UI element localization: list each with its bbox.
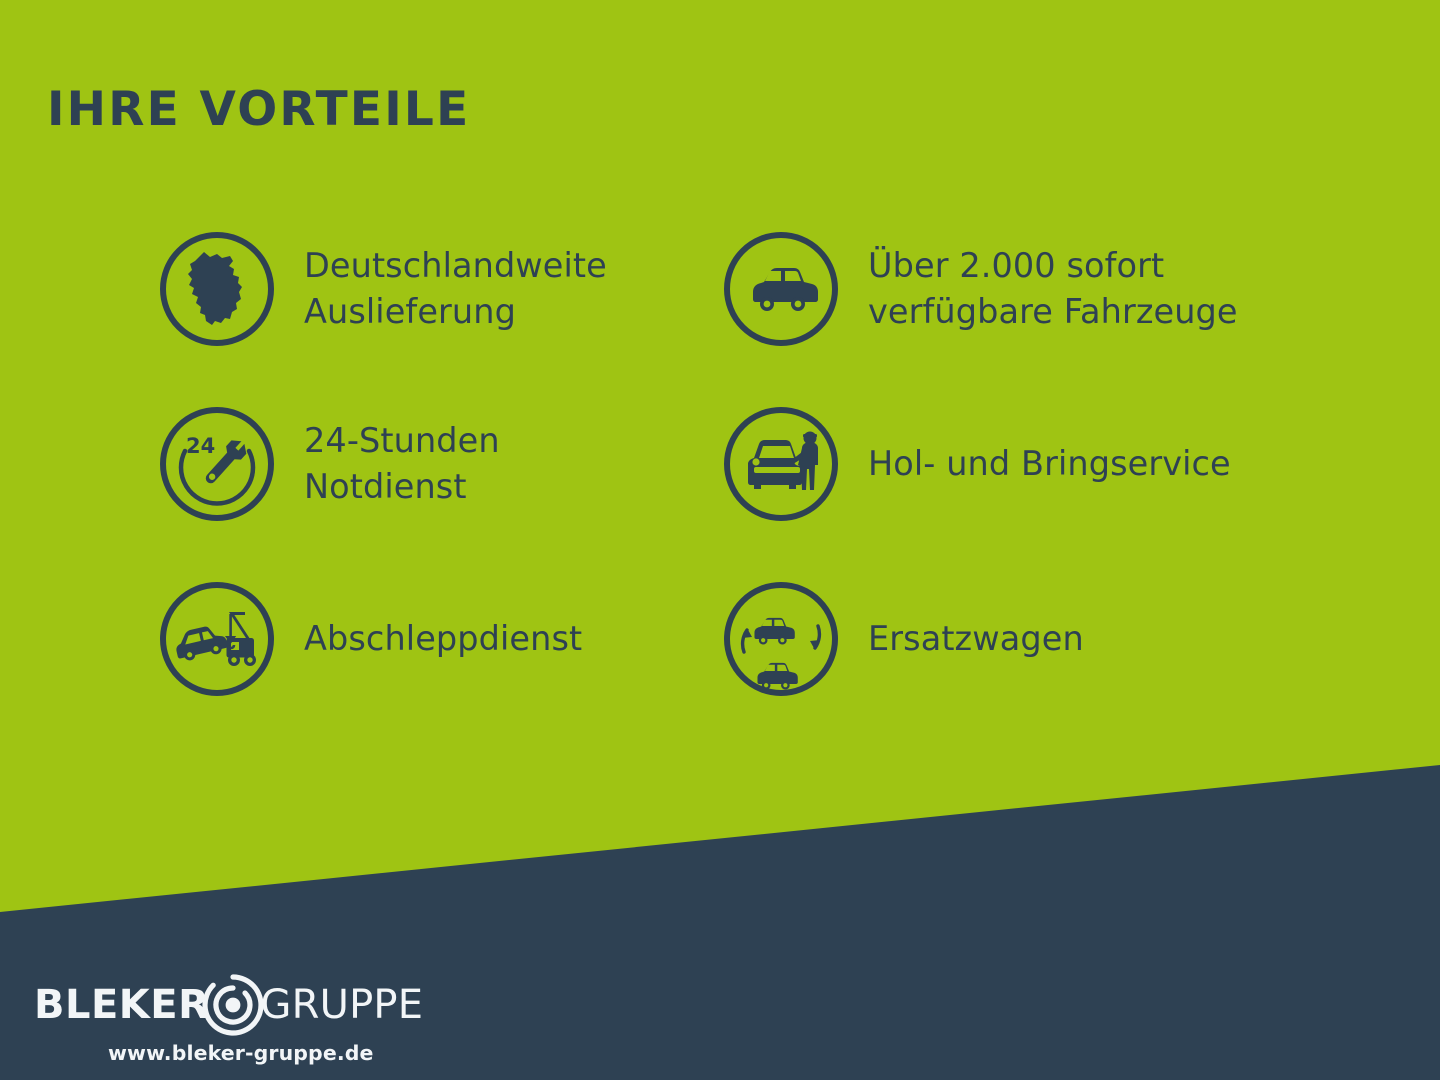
benefit-label: Hol- und Bringservice (868, 441, 1231, 487)
logo-wordmark: BLEKER GRUPPE (34, 975, 454, 1035)
footer-logo[interactable]: BLEKER GRUPPE www.bleker-gruppe.de (34, 975, 454, 1070)
benefit-item-hol-und-bringservice: Hol- und Bringservice (722, 405, 1231, 523)
benefit-item-ersatzwagen: Ersatzwagen (722, 580, 1084, 698)
logo-primary-text: BLEKER (34, 985, 209, 1025)
icon-text-24: 24 (186, 434, 215, 458)
benefit-label: Abschleppdienst (304, 616, 582, 662)
spiral-circle-icon (202, 974, 264, 1036)
benefit-label: Deutschlandweite Auslieferung (304, 243, 607, 335)
car-with-driver-icon (722, 405, 840, 523)
24-hour-wrench-icon: 24 (158, 405, 276, 523)
benefit-label: Ersatzwagen (868, 616, 1084, 662)
tow-truck-icon (158, 580, 276, 698)
benefit-item-24-stunden-notdienst: 24 24-Stunden Notdienst (158, 405, 500, 523)
benefit-item-verfuegbare-fahrzeuge: Über 2.000 sofort verfügbare Fahrzeuge (722, 230, 1238, 348)
benefit-label: 24-Stunden Notdienst (304, 418, 500, 510)
benefit-item-abschleppdienst: Abschleppdienst (158, 580, 582, 698)
benefit-item-deutschlandweite-auslieferung: Deutschlandweite Auslieferung (158, 230, 607, 348)
slide-canvas: IHRE VORTEILE Deutschlandweite Ausliefer… (0, 0, 1440, 1080)
benefit-label: Über 2.000 sofort verfügbare Fahrzeuge (868, 243, 1238, 335)
car-side-icon (722, 230, 840, 348)
benefits-list: Deutschlandweite Auslieferung (0, 0, 1440, 780)
germany-map-icon (158, 230, 276, 348)
car-swap-icon (722, 580, 840, 698)
logo-secondary-text: GRUPPE (260, 985, 423, 1025)
logo-url[interactable]: www.bleker-gruppe.de (108, 1041, 454, 1065)
